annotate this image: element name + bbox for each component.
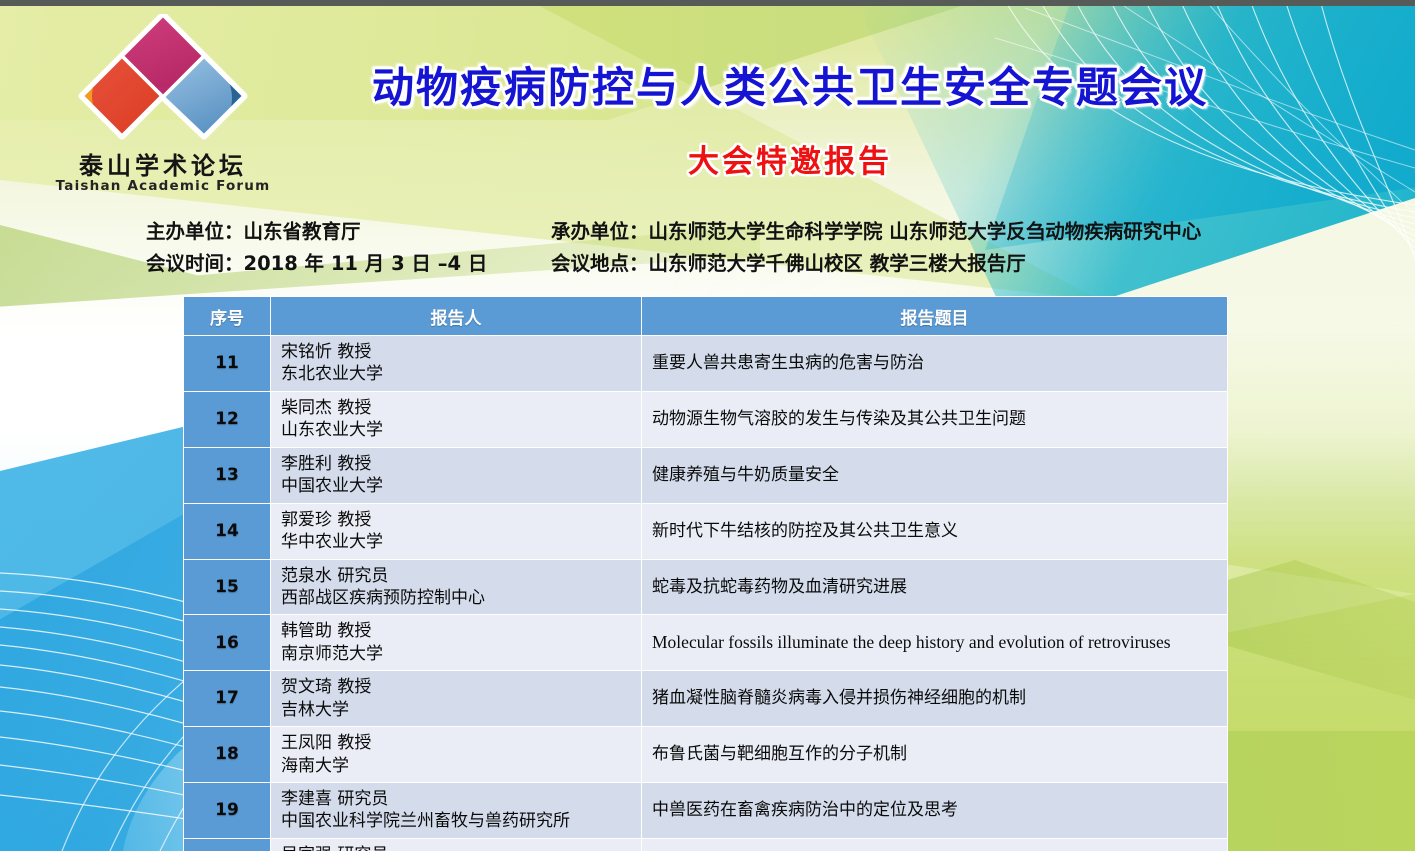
row-speaker: 宋铭忻 教授东北农业大学 — [271, 336, 641, 391]
row-speaker: 贺文琦 教授吉林大学 — [271, 671, 641, 726]
speaker-affiliation: 东北农业大学 — [281, 363, 631, 385]
column-header-no: 序号 — [184, 297, 270, 335]
table-row: 20吴家强 研究员山东省农业科学院生猪重要疫病防控产品的研发、转化与应用 — [184, 839, 1227, 851]
slide-subtitle: 大会特邀报告 — [330, 136, 1250, 181]
speaker-affiliation: 吉林大学 — [281, 699, 631, 721]
speaker-name: 王凤阳 教授 — [281, 732, 631, 754]
row-speaker: 范泉水 研究员西部战区疾病预防控制中心 — [271, 560, 641, 615]
meeting-place-line: 会议地点：山东师范大学千佛山校区 教学三楼大报告厅 — [551, 247, 1026, 276]
row-speaker: 李建喜 研究员中国农业科学院兰州畜牧与兽药研究所 — [271, 783, 641, 838]
row-talk-title: 蛇毒及抗蛇毒药物及血清研究进展 — [642, 560, 1227, 615]
row-number: 13 — [184, 448, 270, 503]
row-number: 18 — [184, 727, 270, 782]
presentation-slide: 泰山学术论坛 Taishan Academic Forum 动物疫病防控与人类公… — [0, 0, 1415, 851]
speaker-name: 吴家强 研究员 — [281, 844, 631, 851]
row-speaker: 吴家强 研究员山东省农业科学院 — [271, 839, 641, 851]
table-header-row: 序号 报告人 报告题目 — [184, 297, 1227, 335]
table-row: 13李胜利 教授中国农业大学健康养殖与牛奶质量安全 — [184, 448, 1227, 503]
speaker-name: 郭爱珍 教授 — [281, 509, 631, 531]
speaker-name: 范泉水 研究员 — [281, 565, 631, 587]
row-speaker: 韩管助 教授南京师范大学 — [271, 615, 641, 670]
slide-top-bar — [0, 0, 1415, 6]
row-number: 11 — [184, 336, 270, 391]
row-number: 14 — [184, 504, 270, 559]
table-row: 18王凤阳 教授海南大学布鲁氏菌与靶细胞互作的分子机制 — [184, 727, 1227, 782]
row-speaker: 王凤阳 教授海南大学 — [271, 727, 641, 782]
row-number: 20 — [184, 839, 270, 851]
speaker-name: 柴同杰 教授 — [281, 397, 631, 419]
column-header-title: 报告题目 — [642, 297, 1227, 335]
row-speaker: 柴同杰 教授山东农业大学 — [271, 392, 641, 447]
row-talk-title: 动物源生物气溶胶的发生与传染及其公共卫生问题 — [642, 392, 1227, 447]
row-talk-title: 中兽医药在畜禽疾病防治中的定位及思考 — [642, 783, 1227, 838]
row-number: 19 — [184, 783, 270, 838]
table-row: 16韩管助 教授南京师范大学Molecular fossils illumina… — [184, 615, 1227, 670]
host-organization-line: 主办单位：山东省教育厅 — [146, 215, 361, 244]
speaker-affiliation: 海南大学 — [281, 755, 631, 777]
speaker-affiliation: 山东农业大学 — [281, 419, 631, 441]
column-header-speaker: 报告人 — [271, 297, 641, 335]
schedule-table-container: 序号 报告人 报告题目 11宋铭忻 教授东北农业大学重要人兽共患寄生虫病的危害与… — [183, 296, 1226, 851]
row-talk-title: 猪血凝性脑脊髓炎病毒入侵并损伤神经细胞的机制 — [642, 671, 1227, 726]
taishan-academic-forum-logo: 泰山学术论坛 Taishan Academic Forum — [38, 14, 288, 194]
row-talk-title: Molecular fossils illuminate the deep hi… — [642, 615, 1227, 670]
row-speaker: 郭爱珍 教授华中农业大学 — [271, 504, 641, 559]
table-row: 12柴同杰 教授山东农业大学动物源生物气溶胶的发生与传染及其公共卫生问题 — [184, 392, 1227, 447]
speaker-affiliation: 华中农业大学 — [281, 531, 631, 553]
row-speaker: 李胜利 教授中国农业大学 — [271, 448, 641, 503]
row-talk-title: 健康养殖与牛奶质量安全 — [642, 448, 1227, 503]
row-talk-title: 重要人兽共患寄生虫病的危害与防治 — [642, 336, 1227, 391]
co-organizer-line: 承办单位：山东师范大学生命科学学院 山东师范大学反刍动物疾病研究中心 — [551, 215, 1201, 244]
taishan-diamond-logo-icon — [38, 14, 288, 144]
speaker-name: 韩管助 教授 — [281, 620, 631, 642]
row-talk-title: 新时代下牛结核的防控及其公共卫生意义 — [642, 504, 1227, 559]
meeting-time-line: 会议时间：2018 年 11 月 3 日 –4 日 — [146, 247, 487, 276]
row-number: 15 — [184, 560, 270, 615]
speaker-name: 宋铭忻 教授 — [281, 341, 631, 363]
speaker-affiliation: 中国农业大学 — [281, 475, 631, 497]
row-number: 17 — [184, 671, 270, 726]
table-row: 14郭爱珍 教授华中农业大学新时代下牛结核的防控及其公共卫生意义 — [184, 504, 1227, 559]
speaker-affiliation: 中国农业科学院兰州畜牧与兽药研究所 — [281, 810, 631, 832]
speaker-affiliation: 南京师范大学 — [281, 643, 631, 665]
speaker-name: 李建喜 研究员 — [281, 788, 631, 810]
row-talk-title: 布鲁氏菌与靶细胞互作的分子机制 — [642, 727, 1227, 782]
table-row: 17贺文琦 教授吉林大学猪血凝性脑脊髓炎病毒入侵并损伤神经细胞的机制 — [184, 671, 1227, 726]
speaker-affiliation: 西部战区疾病预防控制中心 — [281, 587, 631, 609]
table-row: 15范泉水 研究员西部战区疾病预防控制中心蛇毒及抗蛇毒药物及血清研究进展 — [184, 560, 1227, 615]
logo-english-name: Taishan Academic Forum — [38, 178, 288, 194]
logo-chinese-name: 泰山学术论坛 — [38, 146, 288, 181]
slide-main-title: 动物疫病防控与人类公共卫生安全专题会议 — [330, 66, 1250, 110]
schedule-table: 序号 报告人 报告题目 11宋铭忻 教授东北农业大学重要人兽共患寄生虫病的危害与… — [183, 296, 1228, 851]
row-number: 12 — [184, 392, 270, 447]
row-number: 16 — [184, 615, 270, 670]
speaker-name: 李胜利 教授 — [281, 453, 631, 475]
table-row: 19李建喜 研究员中国农业科学院兰州畜牧与兽药研究所中兽医药在畜禽疾病防治中的定… — [184, 783, 1227, 838]
speaker-name: 贺文琦 教授 — [281, 676, 631, 698]
table-row: 11宋铭忻 教授东北农业大学重要人兽共患寄生虫病的危害与防治 — [184, 336, 1227, 391]
row-talk-title: 生猪重要疫病防控产品的研发、转化与应用 — [642, 839, 1227, 851]
